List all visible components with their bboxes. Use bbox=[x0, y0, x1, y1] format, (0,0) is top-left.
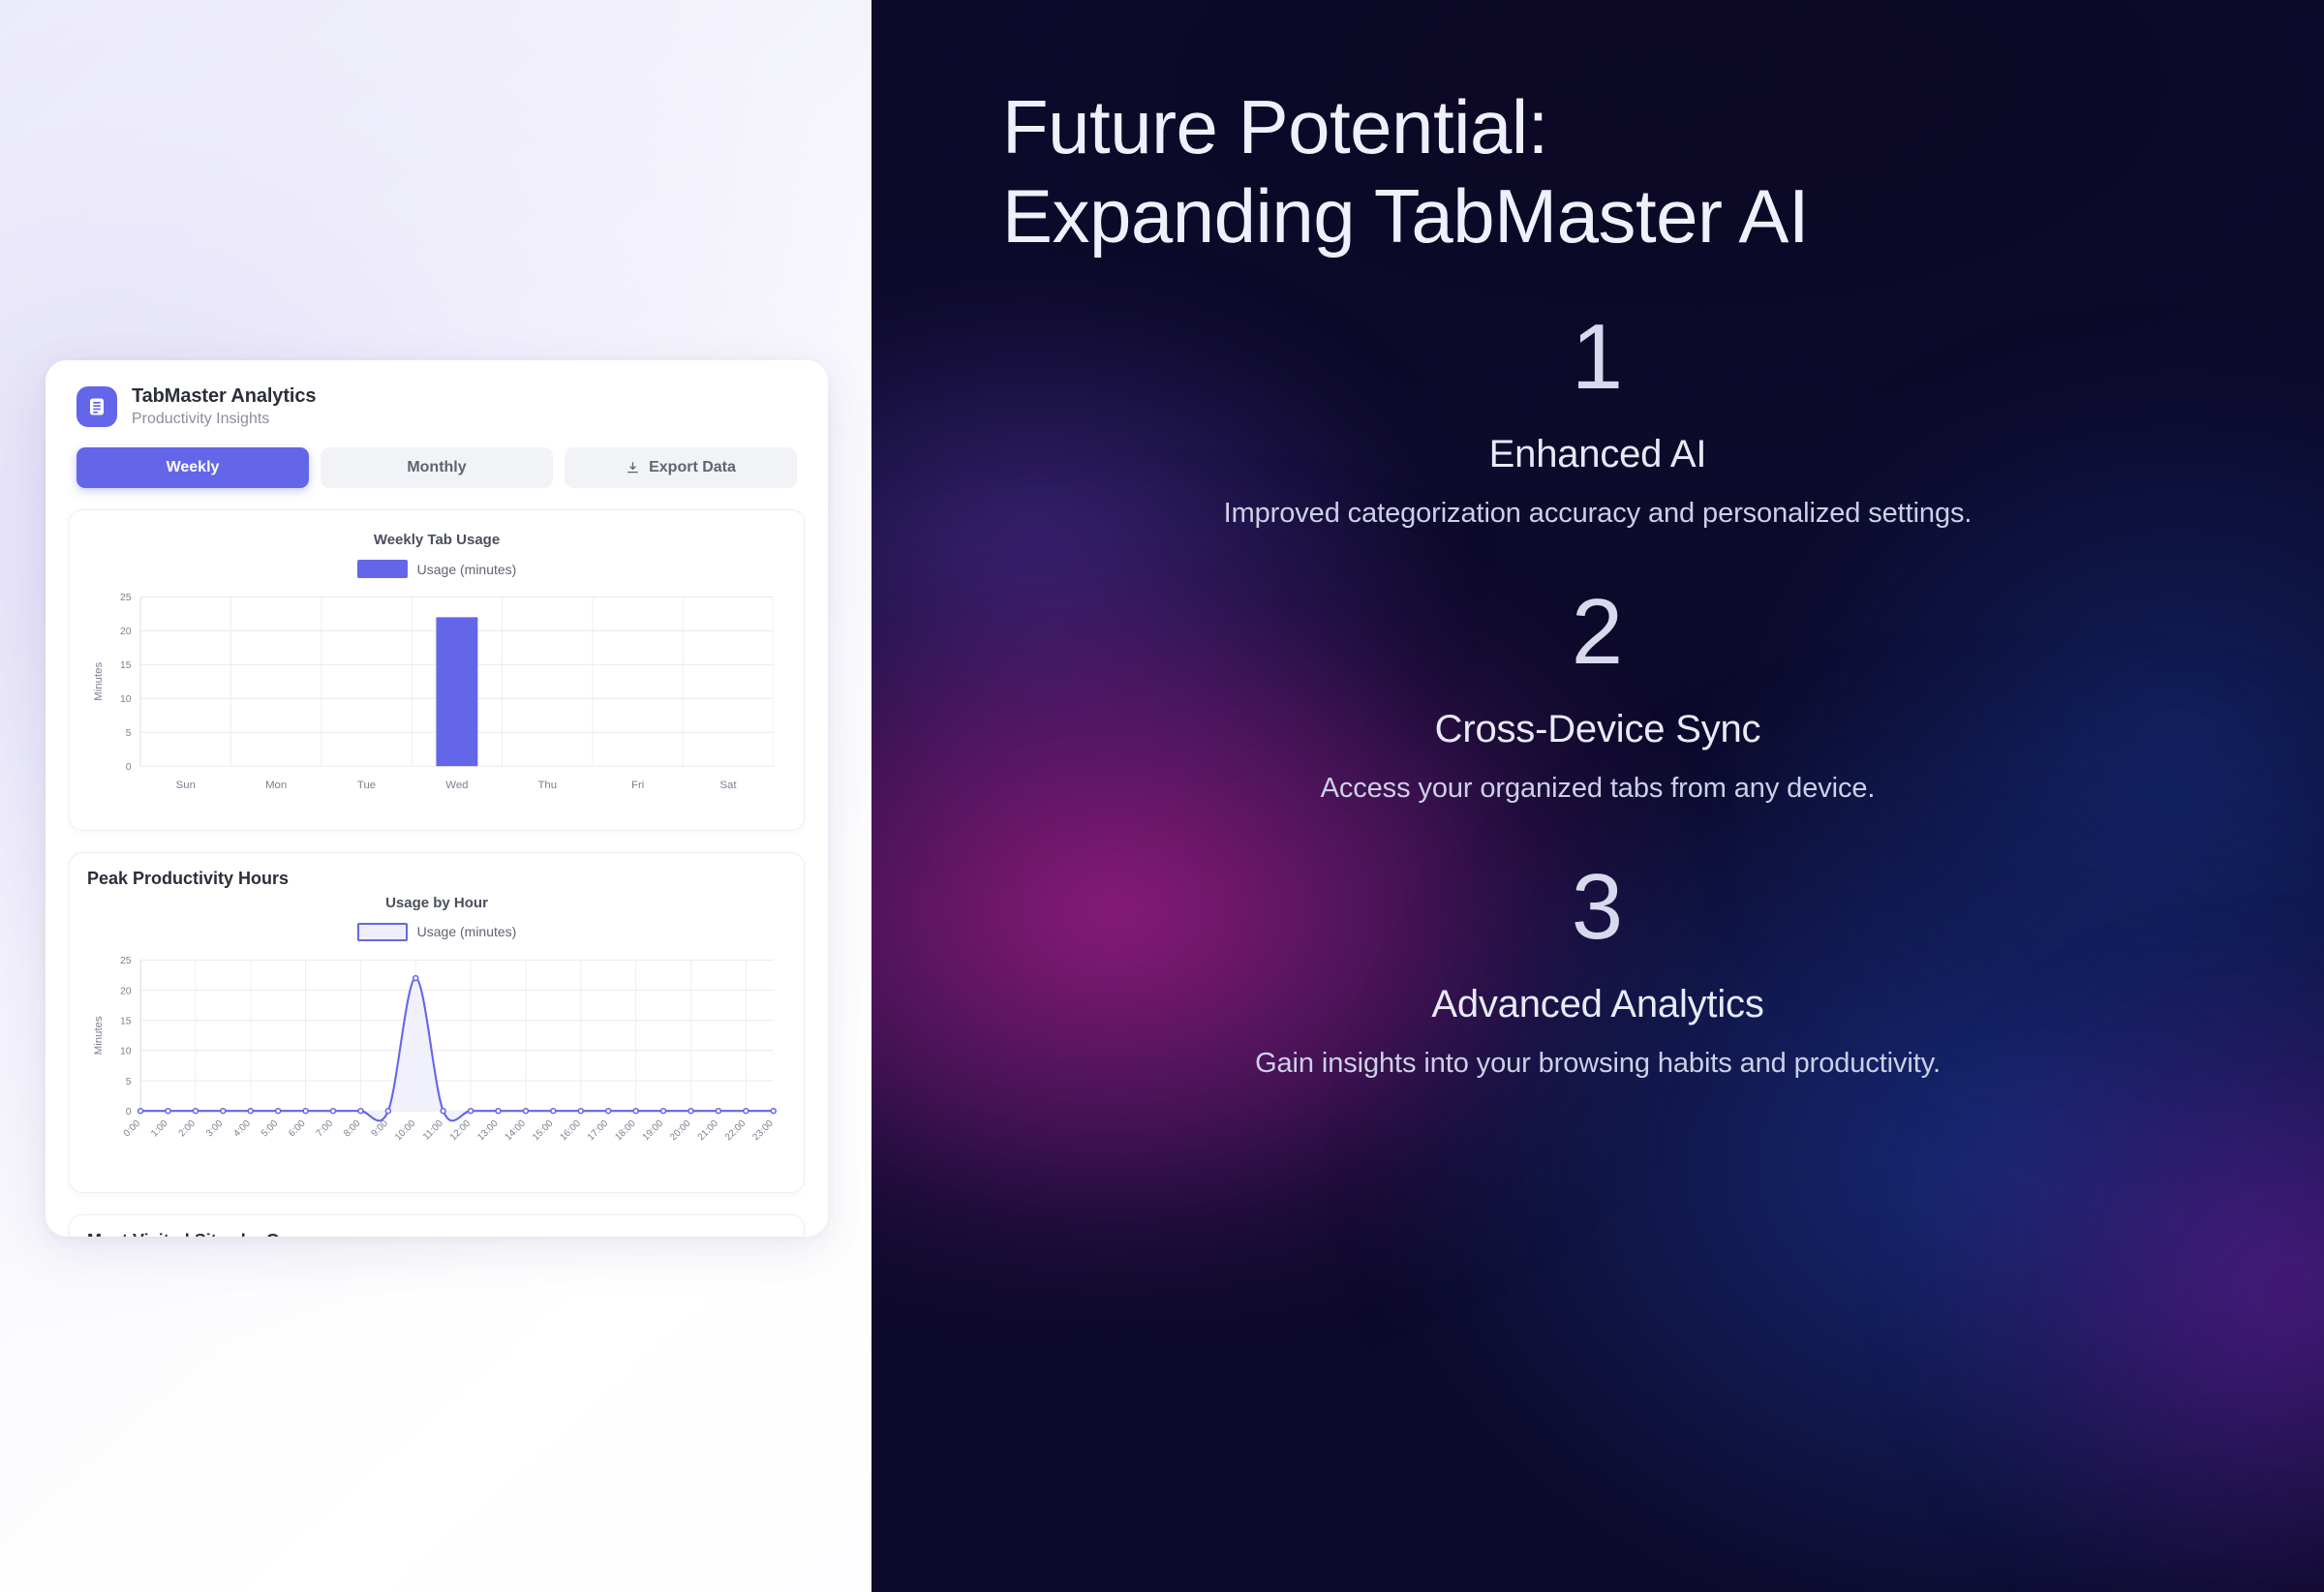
svg-text:4:00: 4:00 bbox=[231, 1117, 253, 1139]
svg-text:10: 10 bbox=[120, 1046, 132, 1056]
svg-text:14:00: 14:00 bbox=[504, 1117, 529, 1143]
screenshot-panel: TabMaster Analytics Productivity Insight… bbox=[0, 0, 871, 1592]
legend-label-usage-hourly: Usage (minutes) bbox=[417, 924, 517, 939]
export-data-label: Export Data bbox=[649, 459, 736, 476]
tabmaster-analytics-card: TabMaster Analytics Productivity Insight… bbox=[46, 360, 828, 1237]
svg-text:Sun: Sun bbox=[176, 780, 196, 791]
svg-text:25: 25 bbox=[120, 956, 132, 966]
svg-text:5: 5 bbox=[126, 1076, 132, 1087]
svg-text:18:00: 18:00 bbox=[613, 1117, 638, 1143]
svg-text:5:00: 5:00 bbox=[260, 1117, 281, 1139]
feature-number: 3 bbox=[959, 861, 2237, 954]
legend-label-usage: Usage (minutes) bbox=[417, 562, 517, 577]
feature-number: 1 bbox=[959, 311, 2237, 404]
svg-text:23:00: 23:00 bbox=[750, 1117, 776, 1143]
svg-text:Mon: Mon bbox=[265, 780, 287, 791]
svg-text:2:00: 2:00 bbox=[177, 1117, 199, 1139]
peak-productivity-heading: Peak Productivity Hours bbox=[87, 869, 786, 889]
svg-text:20: 20 bbox=[120, 986, 132, 996]
feature-description: Improved categorization accuracy and per… bbox=[959, 498, 2237, 530]
svg-text:Minutes: Minutes bbox=[93, 662, 105, 701]
svg-text:6:00: 6:00 bbox=[287, 1117, 308, 1139]
svg-text:8:00: 8:00 bbox=[342, 1117, 363, 1139]
svg-text:13:00: 13:00 bbox=[475, 1117, 501, 1143]
svg-text:16:00: 16:00 bbox=[558, 1117, 583, 1143]
hourly-area-svg: 05101520250:001:002:003:004:005:006:007:… bbox=[87, 949, 786, 1179]
svg-text:20: 20 bbox=[120, 627, 132, 637]
document-lines-icon bbox=[76, 386, 117, 427]
svg-text:10: 10 bbox=[120, 694, 132, 705]
svg-text:Wed: Wed bbox=[445, 780, 468, 791]
app-subtitle: Productivity Insights bbox=[132, 411, 316, 428]
svg-text:19:00: 19:00 bbox=[641, 1117, 666, 1143]
svg-text:12:00: 12:00 bbox=[448, 1117, 474, 1143]
svg-text:7:00: 7:00 bbox=[315, 1117, 336, 1139]
content-panel: Future Potential: Expanding TabMaster AI… bbox=[871, 0, 2324, 1592]
svg-text:Tue: Tue bbox=[357, 780, 376, 791]
feature-item: 3Advanced AnalyticsGain insights into yo… bbox=[959, 861, 2237, 1080]
legend-swatch-usage bbox=[357, 560, 408, 578]
weekly-bar-svg: 0510152025SunMonTueWedThuFriSatMinutes bbox=[87, 586, 786, 816]
svg-text:15: 15 bbox=[120, 660, 132, 671]
hourly-area-plot: 05101520250:001:002:003:004:005:006:007:… bbox=[87, 949, 786, 1179]
svg-text:17:00: 17:00 bbox=[586, 1117, 611, 1143]
tab-monthly[interactable]: Monthly bbox=[321, 447, 553, 488]
weekly-chart-legend: Usage (minutes) bbox=[87, 560, 786, 578]
legend-swatch-usage-hourly bbox=[357, 923, 408, 941]
svg-text:11:00: 11:00 bbox=[421, 1117, 445, 1142]
feature-title: Enhanced AI bbox=[959, 433, 2237, 476]
svg-text:15:00: 15:00 bbox=[531, 1117, 556, 1143]
feature-item: 2Cross-Device SyncAccess your organized … bbox=[959, 586, 2237, 805]
svg-text:Thu: Thu bbox=[537, 780, 557, 791]
feature-list: 1Enhanced AIImproved categorization accu… bbox=[959, 311, 2237, 1080]
most-visited-sites-card: Most Visited Sites by Group Social Media… bbox=[69, 1214, 805, 1237]
most-visited-heading: Most Visited Sites by Group bbox=[87, 1231, 786, 1237]
svg-text:1:00: 1:00 bbox=[149, 1117, 170, 1139]
svg-text:10:00: 10:00 bbox=[393, 1117, 418, 1143]
brand: TabMaster Analytics Productivity Insight… bbox=[76, 385, 797, 428]
hourly-chart-legend: Usage (minutes) bbox=[87, 923, 786, 941]
feature-description: Gain insights into your browsing habits … bbox=[959, 1048, 2237, 1080]
hourly-chart-title: Usage by Hour bbox=[87, 895, 786, 911]
feature-description: Access your organized tabs from any devi… bbox=[959, 773, 2237, 805]
feature-item: 1Enhanced AIImproved categorization accu… bbox=[959, 311, 2237, 530]
svg-text:5: 5 bbox=[126, 728, 132, 739]
svg-text:Fri: Fri bbox=[631, 780, 644, 791]
svg-text:0: 0 bbox=[126, 762, 132, 773]
app-title: TabMaster Analytics bbox=[132, 385, 316, 408]
svg-text:25: 25 bbox=[120, 593, 132, 603]
svg-text:0: 0 bbox=[126, 1107, 132, 1117]
download-icon bbox=[626, 461, 640, 475]
svg-text:Sat: Sat bbox=[719, 780, 737, 791]
page-title: Future Potential: Expanding TabMaster AI bbox=[959, 82, 2237, 260]
svg-text:20:00: 20:00 bbox=[668, 1117, 693, 1143]
svg-text:0:00: 0:00 bbox=[122, 1117, 143, 1139]
peak-productivity-hours-card: Peak Productivity Hours Usage by Hour Us… bbox=[69, 852, 805, 1194]
weekly-tab-usage-card: Weekly Tab Usage Usage (minutes) 0510152… bbox=[69, 509, 805, 831]
svg-text:21:00: 21:00 bbox=[696, 1117, 721, 1143]
feature-title: Advanced Analytics bbox=[959, 983, 2237, 1026]
view-toggle-group: Weekly Monthly Export Data bbox=[76, 447, 797, 488]
svg-text:22:00: 22:00 bbox=[723, 1117, 749, 1143]
feature-number: 2 bbox=[959, 586, 2237, 679]
weekly-chart-title: Weekly Tab Usage bbox=[87, 532, 786, 548]
svg-text:3:00: 3:00 bbox=[204, 1117, 226, 1139]
tab-weekly[interactable]: Weekly bbox=[76, 447, 309, 488]
feature-title: Cross-Device Sync bbox=[959, 708, 2237, 751]
app-header: TabMaster Analytics Productivity Insight… bbox=[46, 360, 828, 488]
weekly-bar-plot: 0510152025SunMonTueWedThuFriSatMinutes bbox=[87, 586, 786, 816]
svg-text:9:00: 9:00 bbox=[369, 1117, 390, 1139]
svg-text:15: 15 bbox=[120, 1016, 132, 1026]
svg-text:Minutes: Minutes bbox=[93, 1016, 105, 1055]
slide-stage: TabMaster Analytics Productivity Insight… bbox=[0, 0, 2324, 1592]
export-data-button[interactable]: Export Data bbox=[565, 447, 797, 488]
